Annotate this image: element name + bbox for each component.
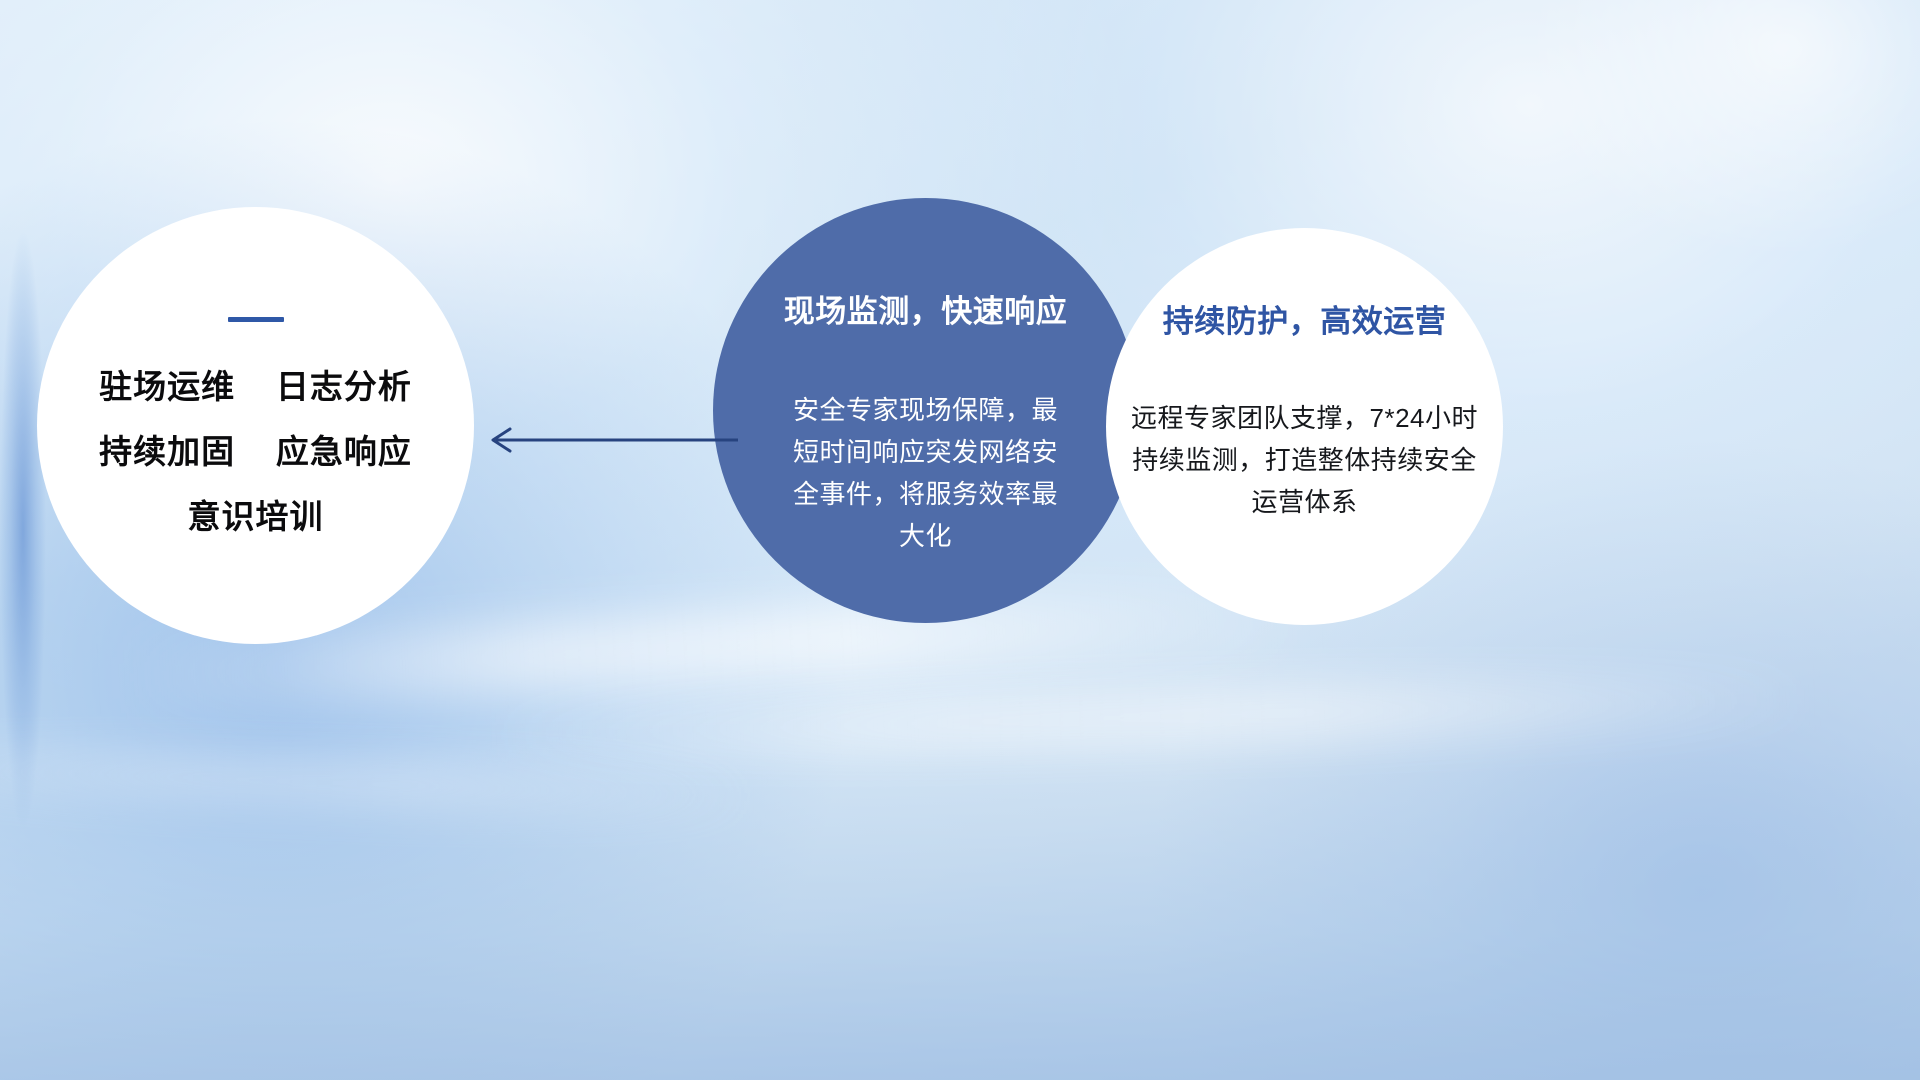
circle-onsite-monitoring-content: 现场监测，快速响应 安全专家现场保障，最短时间响应突发网络安全事件，将服务效率最… <box>731 286 1121 557</box>
continuous-protection-heading: 持续防护，高效运营 <box>1110 296 1500 341</box>
capability-line-2: 持续加固 应急响应 <box>56 435 456 468</box>
circle-continuous-protection[interactable]: 持续防护，高效运营 远程专家团队支撑，7*24小时持续监测，打造整体持续安全运营… <box>1106 228 1503 625</box>
circle-continuous-protection-content: 持续防护，高效运营 远程专家团队支撑，7*24小时持续监测，打造整体持续安全运营… <box>1110 296 1500 523</box>
capability-line-3: 意识培训 <box>56 500 456 533</box>
circle-capabilities[interactable]: 驻场运维 日志分析 持续加固 应急响应 意识培训 <box>37 207 474 644</box>
arrow-connector <box>480 418 740 462</box>
continuous-protection-body: 远程专家团队支撑，7*24小时持续监测，打造整体持续安全运营体系 <box>1125 397 1485 523</box>
background-bottom-shade <box>0 750 1920 1080</box>
circle-capabilities-content: 驻场运维 日志分析 持续加固 应急响应 意识培训 <box>56 317 456 533</box>
arrow-left-icon <box>480 418 740 462</box>
onsite-monitoring-body: 安全专家现场保障，最短时间响应突发网络安全事件，将服务效率最大化 <box>790 389 1062 557</box>
dash-divider-icon <box>228 317 284 322</box>
slide-canvas: 驻场运维 日志分析 持续加固 应急响应 意识培训 现场监测，快速响应 安全专家现… <box>0 0 1920 1080</box>
circle-onsite-monitoring[interactable]: 现场监测，快速响应 安全专家现场保障，最短时间响应突发网络安全事件，将服务效率最… <box>713 198 1138 623</box>
onsite-monitoring-heading: 现场监测，快速响应 <box>747 286 1105 331</box>
capability-line-1: 驻场运维 日志分析 <box>56 370 456 403</box>
